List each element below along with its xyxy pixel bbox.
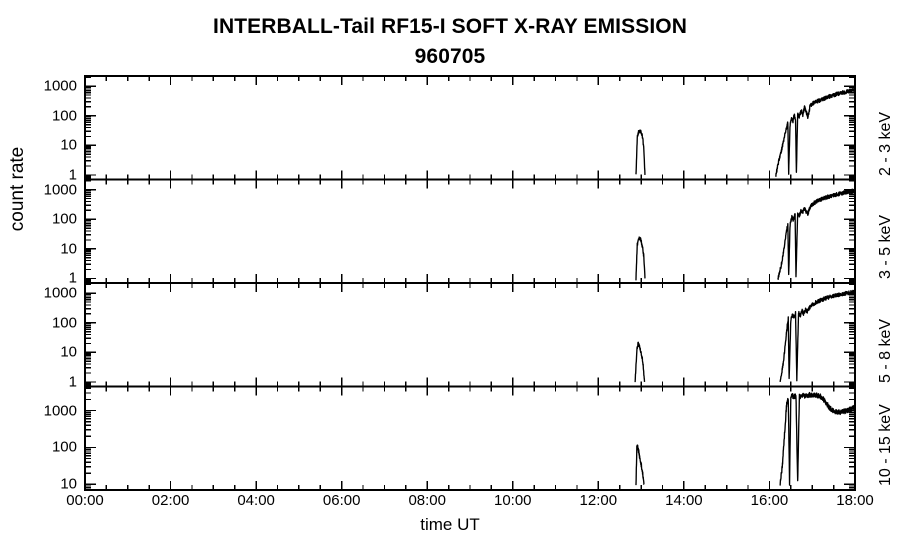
data-trace <box>780 290 855 382</box>
panel-frame <box>85 283 855 387</box>
panel-frame <box>85 76 855 180</box>
panel-frame <box>85 180 855 284</box>
data-trace <box>778 189 855 279</box>
data-trace <box>776 88 855 177</box>
panel-frame <box>85 387 855 491</box>
figure-canvas: INTERBALL-Tail RF15-I SOFT X-RAY EMISSIO… <box>0 0 900 548</box>
plot-area <box>0 0 900 548</box>
data-trace <box>636 237 645 280</box>
data-trace <box>636 130 645 175</box>
data-trace <box>636 445 644 485</box>
data-trace <box>780 393 855 486</box>
data-trace <box>635 342 644 382</box>
